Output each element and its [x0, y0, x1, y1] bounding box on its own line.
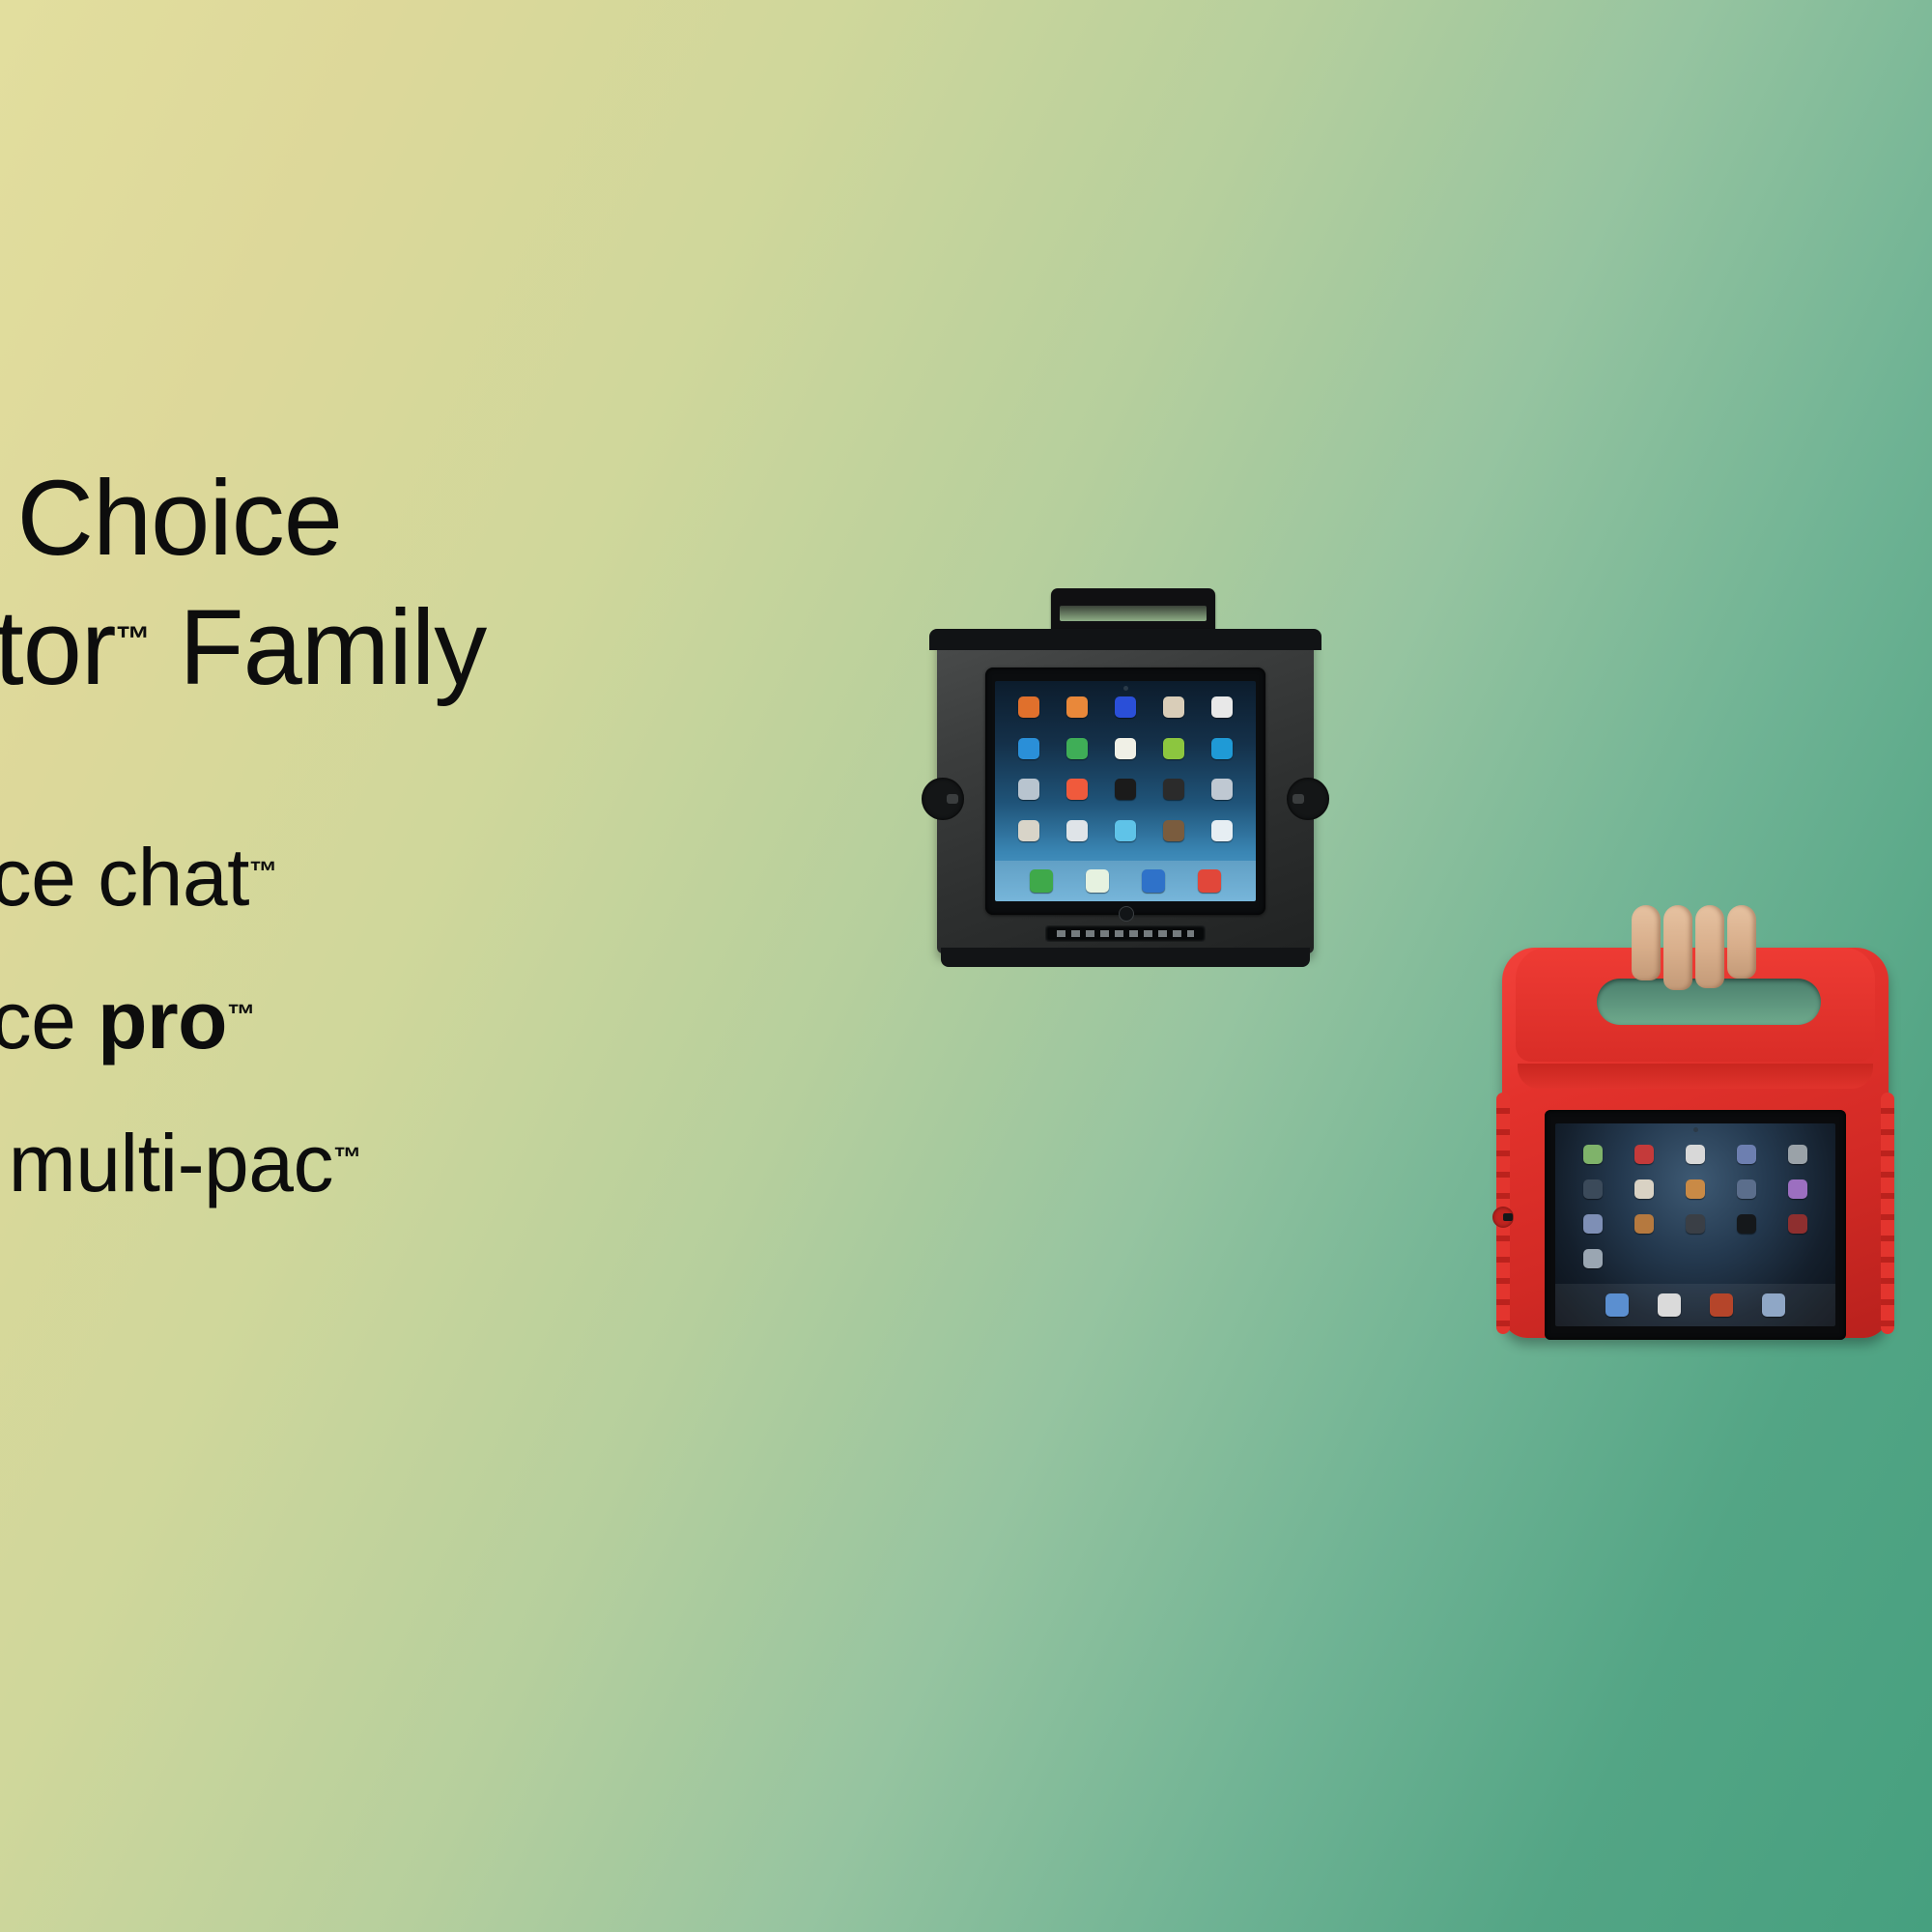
side-grip-right: [1287, 778, 1329, 820]
app-dock-red: [1555, 1284, 1835, 1326]
hand-gripping-handle: [1630, 905, 1775, 990]
app-icon: [1583, 1145, 1603, 1164]
app-icon: [1634, 1249, 1654, 1268]
side-grip-left: [922, 778, 964, 820]
list-item: hoice chat™: [0, 837, 753, 918]
dock-app-icon: [1142, 869, 1165, 893]
trademark-symbol: ™: [116, 619, 151, 659]
tablet-screen: [1555, 1123, 1835, 1326]
side-button: [1492, 1207, 1514, 1228]
title-line-1: CI Choice: [0, 454, 753, 583]
product-image-red-case: [1502, 923, 1889, 1338]
app-icon: [1737, 1145, 1756, 1164]
app-icon: [1583, 1179, 1603, 1199]
product-list: hoice chat™ hoice pro™ ice multi-pac™: [0, 837, 753, 1204]
app-icon: [1737, 1249, 1756, 1268]
dock-app-icon: [1710, 1293, 1733, 1317]
app-icon: [1066, 738, 1088, 759]
page-title: CI Choice cator™ Family: [0, 454, 753, 713]
app-icon: [1066, 779, 1088, 800]
foam-bumper-right: [1881, 1093, 1894, 1334]
handle-ribs: [1068, 606, 1198, 614]
app-icon: [1686, 1179, 1705, 1199]
list-item: hoice pro™: [0, 980, 753, 1061]
app-icon: [1634, 1179, 1654, 1199]
product-name-pro-emphasis: pro: [98, 975, 227, 1065]
title-line-2-text: cator: [0, 588, 116, 707]
trademark-symbol: ™: [227, 999, 255, 1031]
dock-app-icon: [1030, 869, 1053, 893]
app-icon: [1018, 738, 1039, 759]
app-icon: [1066, 696, 1088, 718]
app-icon: [1788, 1179, 1807, 1199]
app-icon: [1788, 1145, 1807, 1164]
app-icon: [1583, 1249, 1603, 1268]
home-button-icon: [1119, 906, 1134, 922]
app-icon: [1788, 1214, 1807, 1234]
app-icon-grid-black: [995, 696, 1256, 857]
front-camera-icon: [1693, 1127, 1698, 1132]
finger: [1727, 905, 1756, 979]
app-icon: [1211, 779, 1233, 800]
tablet-device: [1545, 1110, 1846, 1340]
dock-app-icon: [1762, 1293, 1785, 1317]
dock-app-icon: [1086, 869, 1109, 893]
app-icon: [1115, 820, 1136, 841]
app-icon: [1115, 738, 1136, 759]
front-camera-icon: [1123, 686, 1128, 691]
app-icon: [1163, 779, 1184, 800]
app-icon: [1737, 1179, 1756, 1199]
list-item: ice multi-pac™: [0, 1122, 753, 1204]
app-icon: [1211, 696, 1233, 718]
case-base: [941, 948, 1310, 967]
trademark-symbol: ™: [249, 856, 277, 888]
app-icon: [1115, 696, 1136, 718]
app-icon: [1634, 1214, 1654, 1234]
app-icon: [1583, 1214, 1603, 1234]
case-body: [1502, 948, 1889, 1338]
finger: [1632, 905, 1661, 980]
dock-app-icon: [1605, 1293, 1629, 1317]
case-brand-plate: [1045, 925, 1206, 942]
app-icon: [1066, 820, 1088, 841]
app-icon: [1163, 696, 1184, 718]
finger: [1695, 905, 1724, 988]
app-icon: [1018, 696, 1039, 718]
handle-shelf: [1518, 1064, 1873, 1089]
product-name-multipac: ice multi-pac: [0, 1118, 333, 1208]
app-icon: [1686, 1214, 1705, 1234]
presentation-slide: CI Choice cator™ Family hoice chat™ hoic…: [0, 0, 1932, 1932]
product-name-pro-prefix: hoice: [0, 975, 98, 1065]
tablet-device: [985, 668, 1265, 915]
dock-app-icon: [1198, 869, 1221, 893]
product-name-chat: hoice chat: [0, 832, 249, 923]
app-icon: [1163, 820, 1184, 841]
tablet-screen: [995, 681, 1256, 901]
app-icon: [1686, 1249, 1705, 1268]
case-top-lip: [929, 629, 1321, 650]
product-image-black-case: [937, 633, 1314, 971]
title-line-2: cator™ Family: [0, 583, 753, 713]
app-icon: [1211, 738, 1233, 759]
app-dock-black: [995, 861, 1256, 901]
app-icon-grid-red: [1555, 1145, 1835, 1276]
app-icon: [1634, 1145, 1654, 1164]
slide-text-block: CI Choice cator™ Family hoice chat™ hoic…: [0, 454, 753, 1265]
app-icon: [1018, 820, 1039, 841]
title-line-2-suffix: Family: [151, 588, 486, 707]
app-icon: [1788, 1249, 1807, 1268]
app-icon: [1163, 738, 1184, 759]
finger: [1663, 905, 1692, 990]
app-icon: [1018, 779, 1039, 800]
app-icon: [1737, 1214, 1756, 1234]
app-icon: [1686, 1145, 1705, 1164]
app-icon: [1211, 820, 1233, 841]
app-icon: [1115, 779, 1136, 800]
trademark-symbol: ™: [333, 1142, 361, 1174]
dock-app-icon: [1658, 1293, 1681, 1317]
case-body: [937, 633, 1314, 953]
carry-handle: [1051, 588, 1215, 633]
